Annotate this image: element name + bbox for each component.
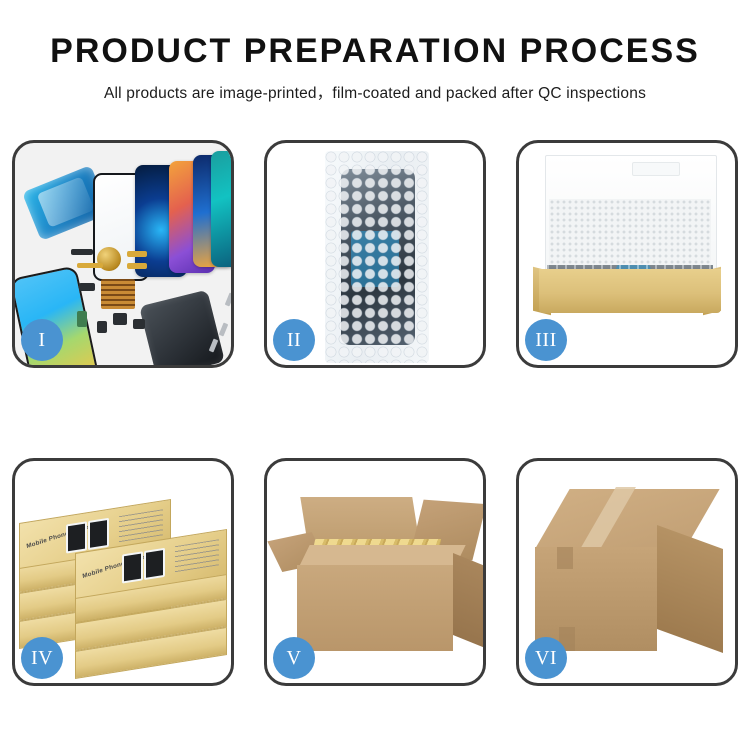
step-badge-6: VI bbox=[525, 637, 567, 679]
phone-thumbnail-icon bbox=[88, 518, 109, 550]
phone-thumbnail-icon bbox=[66, 521, 87, 553]
small-part-icon bbox=[79, 283, 95, 291]
camera-module-icon bbox=[113, 313, 127, 325]
flex-cable-icon bbox=[127, 263, 147, 269]
small-part-icon bbox=[97, 321, 107, 333]
flex-cable-icon bbox=[127, 251, 147, 257]
screw-icon bbox=[219, 323, 229, 337]
sealed-carton-side-icon bbox=[657, 525, 723, 653]
step-panel-3[interactable]: III bbox=[516, 140, 738, 368]
phone-display-teal-icon bbox=[211, 151, 231, 267]
page-subtitle: All products are image-printed，film-coat… bbox=[0, 81, 750, 103]
sealed-carton-front-icon bbox=[535, 547, 657, 651]
foam-liner-icon bbox=[549, 199, 711, 271]
earpiece-mesh-icon bbox=[71, 249, 93, 255]
step-panel-2[interactable]: II bbox=[264, 140, 486, 368]
carton-front-face-icon bbox=[297, 565, 453, 651]
step-badge-3: III bbox=[525, 319, 567, 361]
page-title: PRODUCT PREPARATION PROCESS bbox=[0, 34, 750, 70]
step-panel-4[interactable]: Mobile Phone Spare Parts Mobile Phone Sp… bbox=[12, 458, 234, 686]
tape-tab-icon bbox=[557, 547, 573, 569]
battery-connector-icon bbox=[77, 311, 87, 327]
lid-tab-icon bbox=[632, 162, 680, 176]
screwdriver-icon bbox=[225, 293, 231, 307]
step-badge-1: I bbox=[21, 319, 63, 361]
step-panel-1[interactable]: I bbox=[12, 140, 234, 368]
page-header: PRODUCT PREPARATION PROCESS All products… bbox=[0, 0, 750, 103]
step-badge-2: II bbox=[273, 319, 315, 361]
phone-back-housing-icon bbox=[139, 290, 225, 365]
vibrator-motor-icon bbox=[133, 319, 145, 329]
kraft-box-body-icon bbox=[539, 269, 721, 313]
flex-cable-icon bbox=[77, 263, 103, 268]
carton-side-face-icon bbox=[453, 553, 483, 648]
bubble-wrap-bag-icon bbox=[325, 151, 429, 363]
spec-text-lines-icon bbox=[119, 509, 163, 542]
bubble-pattern-icon bbox=[325, 151, 429, 363]
step-panel-6[interactable]: VI bbox=[516, 458, 738, 686]
phone-thumbnail-icon bbox=[122, 551, 143, 583]
process-steps-grid: I II III bbox=[12, 140, 738, 686]
step-panel-5[interactable]: V bbox=[264, 458, 486, 686]
phone-thumbnail-icon bbox=[144, 548, 165, 580]
spec-text-lines-icon bbox=[175, 539, 219, 572]
step-badge-5: V bbox=[273, 637, 315, 679]
step-badge-4: IV bbox=[21, 637, 63, 679]
chip-board-icon bbox=[101, 279, 135, 309]
